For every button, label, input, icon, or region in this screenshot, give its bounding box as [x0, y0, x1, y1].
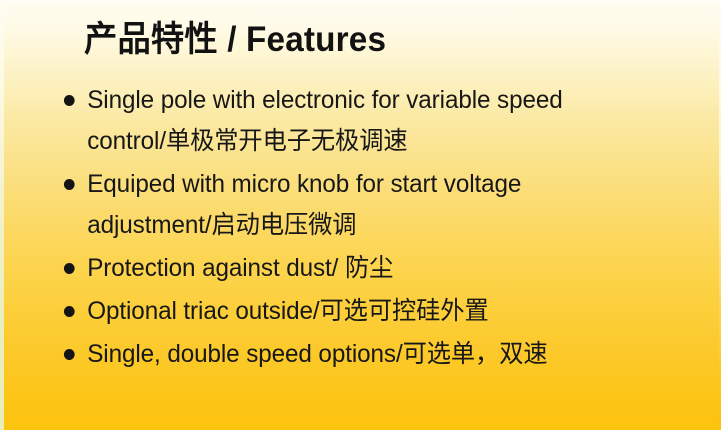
bullet-dot-icon: [64, 179, 75, 190]
list-item: Protection against dust/ 防尘: [62, 248, 693, 289]
feature-text: Equiped with micro knob for start voltag…: [87, 164, 692, 246]
features-slide: 产品特性 / Features Single pole with electro…: [0, 0, 721, 430]
features-list: Single pole with electronic for variable…: [62, 80, 712, 377]
feature-text: Single, double speed options/可选单，双速: [87, 334, 692, 375]
slide-content: 产品特性 / Features Single pole with electro…: [0, 0, 721, 430]
page-title: 产品特性 / Features: [84, 17, 386, 63]
feature-text: Protection against dust/ 防尘: [87, 248, 692, 289]
list-item: Single, double speed options/可选单，双速: [62, 334, 693, 375]
list-item: Optional triac outside/可选可控硅外置: [62, 291, 693, 332]
bullet-dot-icon: [64, 263, 75, 274]
list-item: Single pole with electronic for variable…: [62, 80, 693, 162]
bullet-dot-icon: [64, 95, 75, 106]
list-item: Equiped with micro knob for start voltag…: [62, 164, 693, 246]
feature-text: Optional triac outside/可选可控硅外置: [87, 291, 692, 332]
bullet-dot-icon: [64, 349, 75, 360]
feature-text: Single pole with electronic for variable…: [87, 80, 692, 162]
bullet-dot-icon: [64, 306, 75, 317]
